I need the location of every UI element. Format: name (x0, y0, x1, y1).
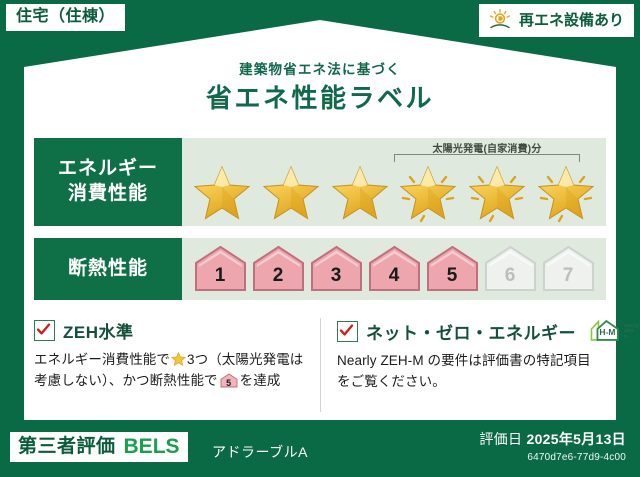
energy-label-line2: 消費性能 (68, 182, 148, 207)
sun-icon (487, 8, 513, 32)
insulation-level-value: 6 (505, 265, 516, 294)
renewable-tag-label: 再エネ設備あり (519, 13, 624, 28)
criteria-zeh-header: ZEH水準 (34, 318, 308, 343)
insulation-label-text: 断熱性能 (68, 258, 148, 281)
insulation-level-4: 4 (367, 244, 422, 294)
zeh-m-sub-line2: ZEH-M (624, 328, 635, 339)
checkbox-net-zero-energy[interactable] (337, 321, 358, 342)
star-1 (191, 165, 253, 223)
insulation-level-value: 4 (389, 265, 400, 294)
star-3 (329, 165, 391, 223)
page-title: 省エネ性能ラベル (0, 78, 640, 115)
star-5 (466, 165, 528, 223)
criteria-zeh-title: ZEH水準 (63, 318, 134, 343)
inline-star-icon (171, 352, 186, 366)
zeh-m-logo: H-M Nearly ZEH-M (588, 318, 639, 344)
criteria-zeh-standard: ZEH水準 エネルギー消費性能で3つ（太陽光発電は考慮しない）、かつ断熱性能で5… (34, 318, 320, 412)
inline-house-value: 5 (220, 379, 238, 388)
star-4 (397, 165, 459, 223)
criteria-net-zero-energy: ネット・ゼロ・エネルギー H-M Nearly ZEH-M Nearly ZEH… (320, 318, 606, 412)
bels-badge: 第三者評価 BELS (10, 432, 188, 462)
criteria-nze-body: Nearly ZEH-M の要件は評価書の特記項目をご覧ください。 (337, 351, 594, 393)
criteria-nze-title: ネット・ゼロ・エネルギー (366, 319, 576, 344)
footer-bar: 第三者評価 BELS アドラーブルA 評価日 2025年5月13日 6470d7… (0, 420, 640, 477)
zeh-m-sub-line1: Nearly (624, 323, 639, 328)
star-2 (260, 165, 322, 223)
zeh-m-logo-text: H-M (599, 327, 615, 337)
evaluation-date-value: 2025年5月13日 (526, 431, 626, 447)
bels-jp-label: 第三者評価 (18, 437, 116, 456)
checkbox-zeh-standard[interactable] (34, 320, 55, 341)
energy-performance-row: エネルギー 消費性能 太陽光発電(自家消費)分 (34, 138, 606, 226)
category-tag-label: 住宅（住棟） (16, 8, 115, 25)
insulation-level-6: 6 (483, 244, 538, 294)
bels-en-label: BELS (124, 436, 180, 457)
criteria-nze-header: ネット・ゼロ・エネルギー H-M Nearly ZEH-M (337, 318, 594, 344)
insulation-level-2: 2 (251, 244, 306, 294)
insulation-level-5: 5 (425, 244, 480, 294)
label-subtitle: 建築物省エネ法に基づく (0, 58, 640, 78)
insulation-level-value: 3 (331, 265, 342, 294)
zeh-m-house-icon: H-M (588, 318, 622, 344)
evaluation-date-label: 評価日 (479, 431, 522, 447)
category-tag: 住宅（住棟） (6, 4, 125, 31)
energy-performance-label: エネルギー 消費性能 (34, 138, 182, 226)
building-name: アドラーブルA (212, 442, 308, 462)
energy-performance-label: 住宅（住棟） 再エネ設備あり 建築物省エネ法に基づく 省エネ性能ラベル (0, 0, 640, 477)
solar-annotation-label: 太陽光発電(自家消費)分 (394, 140, 580, 155)
evaluation-info: 評価日 2025年5月13日 6470d7e6-77d9-4c00 (479, 429, 626, 463)
star-rating (182, 164, 606, 224)
evaluation-id: 6470d7e6-77d9-4c00 (479, 452, 626, 463)
insulation-level-7: 7 (541, 244, 596, 294)
criteria-zeh-text-pre: エネルギー消費性能で (34, 352, 170, 367)
inline-house-icon: 5 (220, 373, 238, 388)
zeh-m-logo-subtext: Nearly ZEH-M (624, 323, 639, 340)
insulation-level-value: 1 (215, 265, 226, 294)
insulation-level-3: 3 (309, 244, 364, 294)
insulation-level-value: 2 (273, 265, 284, 294)
criteria-zeh-text-post: を達成 (240, 373, 281, 388)
criteria-section: ZEH水準 エネルギー消費性能で3つ（太陽光発電は考慮しない）、かつ断熱性能で5… (34, 318, 606, 412)
evaluation-date-row: 評価日 2025年5月13日 (479, 429, 626, 449)
star-6 (535, 165, 597, 223)
insulation-performance-label: 断熱性能 (34, 238, 182, 300)
renewable-equipment-tag: 再エネ設備あり (479, 4, 634, 37)
criteria-zeh-body: エネルギー消費性能で3つ（太陽光発電は考慮しない）、かつ断熱性能で5を達成 (34, 350, 308, 392)
insulation-level-value: 7 (563, 265, 574, 294)
energy-label-line1: エネルギー (58, 157, 158, 182)
solar-bracket (394, 154, 580, 162)
insulation-rating-area: 1234567 (182, 238, 606, 300)
insulation-level-value: 5 (447, 265, 458, 294)
insulation-level-1: 1 (193, 244, 248, 294)
energy-rating-area: 太陽光発電(自家消費)分 (182, 138, 606, 226)
insulation-performance-row: 断熱性能 1234567 (34, 238, 606, 300)
insulation-level-scale: 1234567 (182, 238, 606, 300)
